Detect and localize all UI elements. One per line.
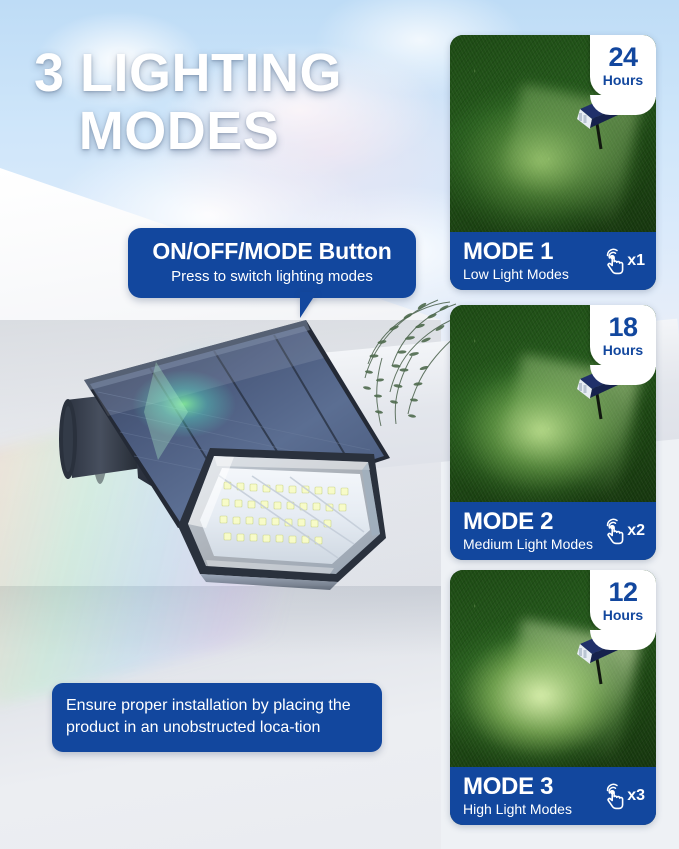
callout-title: ON/OFF/MODE Button	[140, 238, 404, 265]
runtime-badge: 12 Hours	[590, 570, 656, 632]
runtime-badge: 18 Hours	[590, 305, 656, 367]
mode-card-text-group: MODE 2 Medium Light Modes	[450, 509, 600, 553]
mode-title: MODE 3	[463, 774, 600, 799]
mode-title: MODE 2	[463, 509, 600, 534]
mode-subtitle: Low Light Modes	[463, 265, 600, 283]
runtime-badge: 24 Hours	[590, 35, 656, 97]
mode-card-footer: MODE 3 High Light Modes x3	[450, 767, 656, 825]
headline-line-2: MODES	[34, 102, 434, 160]
mode-card[interactable]: 24 Hours MODE 1 Low Light Modes x1	[450, 35, 656, 290]
hand-tap-icon	[600, 781, 626, 811]
runtime-hours-unit: Hours	[603, 72, 643, 89]
mode-title: MODE 1	[463, 239, 600, 264]
mode-card[interactable]: 18 Hours MODE 2 Medium Light Modes x2	[450, 305, 656, 560]
mode-card[interactable]: 12 Hours MODE 3 High Light Modes x3	[450, 570, 656, 825]
hand-tap-icon	[600, 246, 626, 276]
runtime-hours-value: 24	[608, 44, 637, 71]
mode-subtitle: Medium Light Modes	[463, 535, 600, 553]
mode-card-footer: MODE 1 Low Light Modes x1	[450, 232, 656, 290]
tap-indicator: x1	[600, 246, 656, 276]
hand-tap-icon	[600, 516, 626, 546]
runtime-hours-unit: Hours	[603, 607, 643, 624]
headline-line-1: 3 LIGHTING	[34, 43, 342, 103]
runtime-hours-value: 12	[608, 579, 637, 606]
callout-subtitle: Press to switch lighting modes	[140, 267, 404, 286]
mode-button-callout: ON/OFF/MODE Button Press to switch light…	[128, 228, 416, 298]
tap-count: x2	[627, 522, 645, 540]
mode-card-text-group: MODE 1 Low Light Modes	[450, 239, 600, 283]
installation-note: Ensure proper installation by placing th…	[52, 683, 382, 752]
mode-subtitle: High Light Modes	[463, 800, 600, 818]
tap-indicator: x2	[600, 516, 656, 546]
runtime-hours-unit: Hours	[603, 342, 643, 359]
runtime-hours-value: 18	[608, 314, 637, 341]
tap-count: x3	[627, 787, 645, 805]
solar-light-product-image	[38, 292, 448, 592]
installation-note-text: Ensure proper installation by placing th…	[66, 695, 368, 739]
infographic-page: 3 LIGHTING MODES ON/OFF/MODE Button Pres…	[0, 0, 679, 849]
mode-card-text-group: MODE 3 High Light Modes	[450, 774, 600, 818]
tap-indicator: x3	[600, 781, 656, 811]
mode-card-footer: MODE 2 Medium Light Modes x2	[450, 502, 656, 560]
page-title: 3 LIGHTING MODES	[34, 44, 434, 160]
tap-count: x1	[627, 252, 645, 270]
